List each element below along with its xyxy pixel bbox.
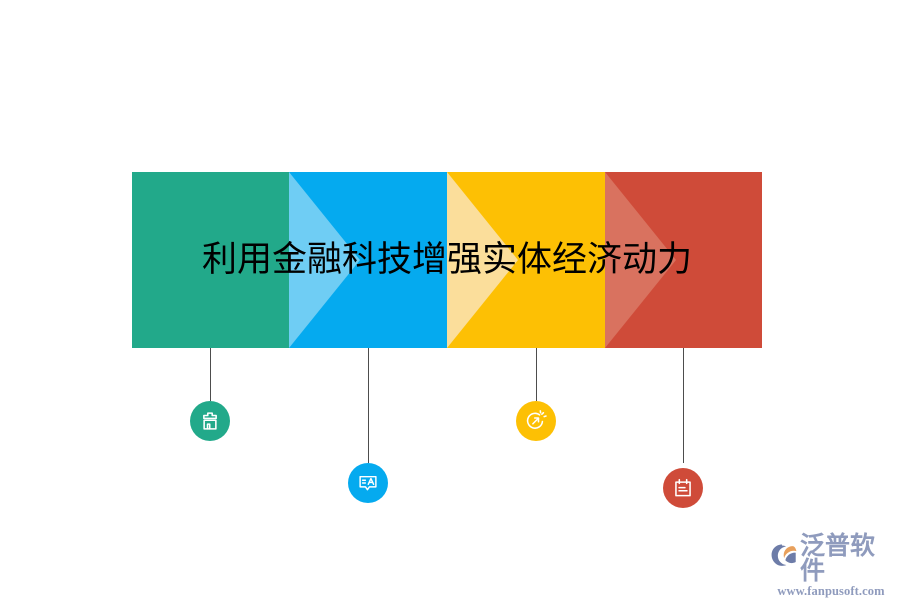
fanpu-logo-icon xyxy=(770,543,797,573)
connector-line-4 xyxy=(683,348,684,463)
store-icon xyxy=(199,410,221,432)
node-store[interactable] xyxy=(190,401,230,441)
node-notepad[interactable] xyxy=(663,468,703,508)
node-translate[interactable] xyxy=(348,463,388,503)
boost-arrow-icon xyxy=(525,410,547,432)
connector-line-3 xyxy=(536,348,537,401)
connector-line-2 xyxy=(368,348,369,463)
watermark: 泛普软件 www.fanpusoft.com xyxy=(770,536,892,594)
watermark-brand-text: 泛普软件 xyxy=(800,533,892,583)
watermark-url: www.fanpusoft.com xyxy=(777,585,884,598)
node-boost[interactable] xyxy=(516,401,556,441)
page-title: 利用金融科技增强实体经济动力 xyxy=(132,172,762,348)
notepad-icon xyxy=(672,477,694,499)
watermark-brand-row: 泛普软件 xyxy=(770,533,892,583)
banner: 利用金融科技增强实体经济动力 xyxy=(132,172,762,348)
translate-icon xyxy=(357,472,379,494)
connector-line-1 xyxy=(210,348,211,401)
infographic-canvas: 利用金融科技增强实体经济动力 xyxy=(0,0,900,600)
